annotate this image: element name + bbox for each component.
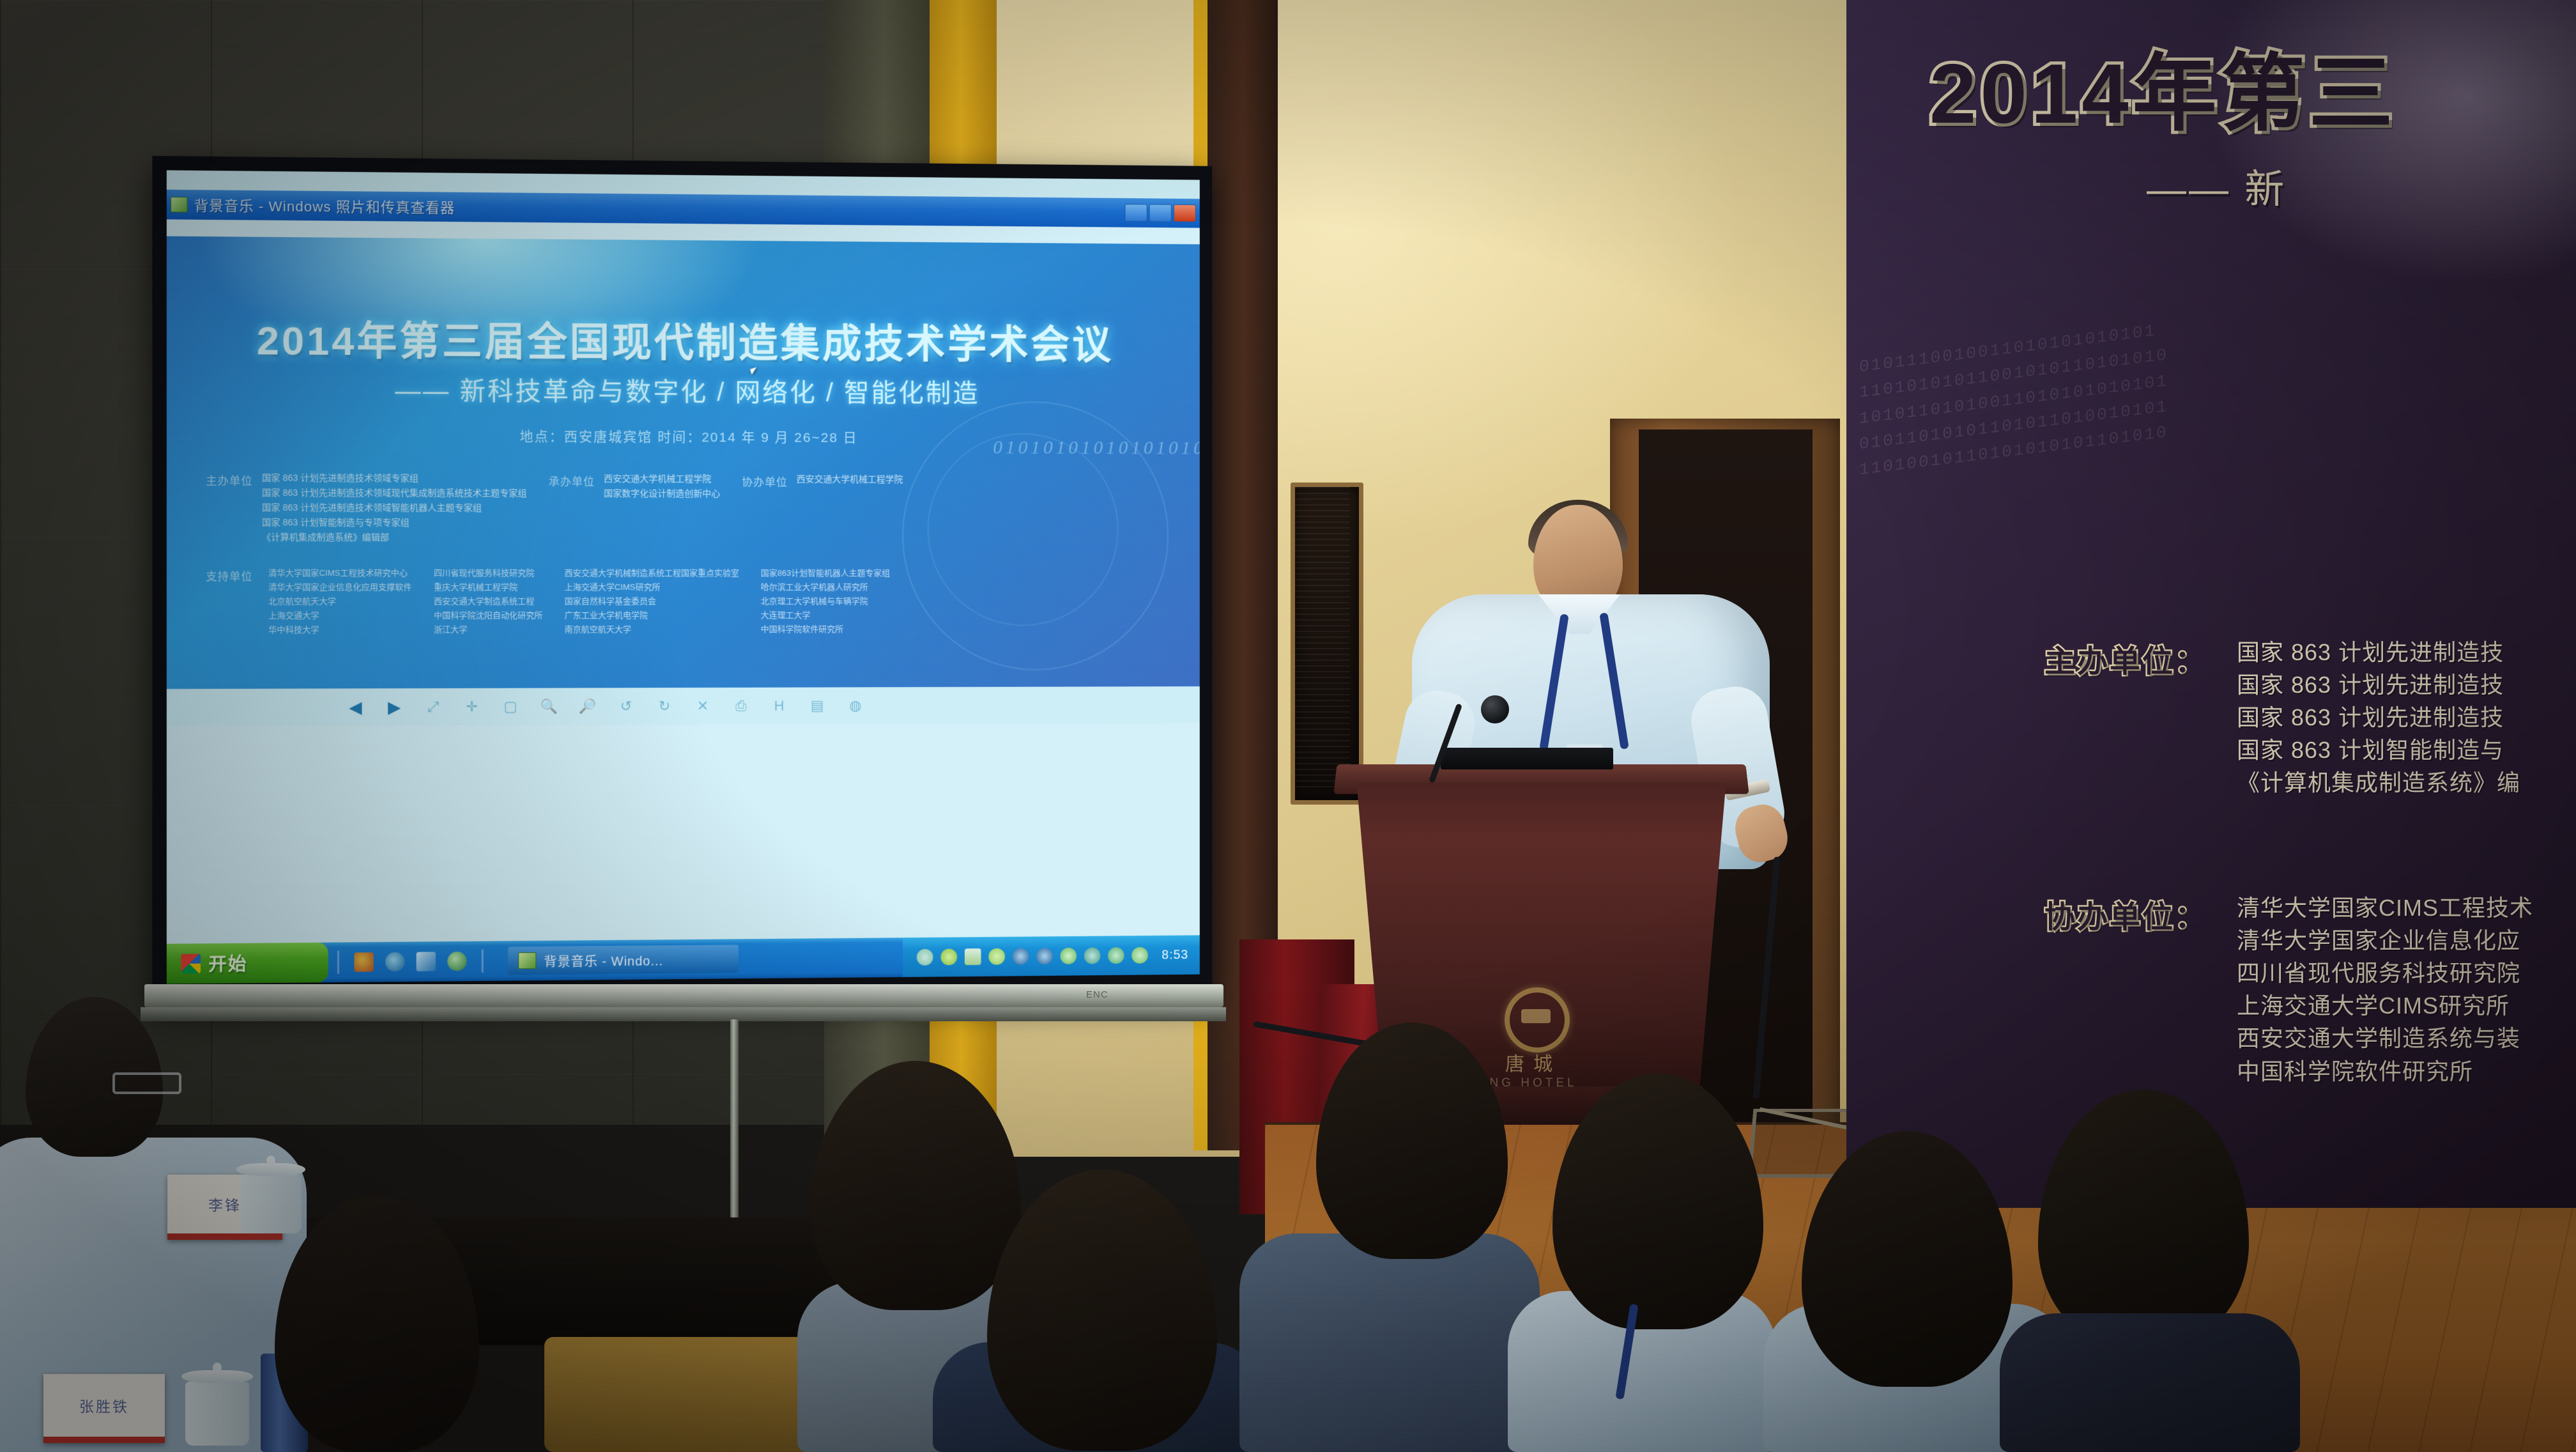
help-icon[interactable]: ◍: [846, 696, 865, 715]
teacup: [185, 1382, 249, 1446]
slide-venue-date: 地点：西安唐城宾馆 时间：2014 年 9 月 26~28 日: [167, 425, 1200, 447]
delete-icon[interactable]: ✕: [693, 697, 712, 716]
zoom-in-icon[interactable]: 🔍: [539, 697, 558, 716]
print-icon[interactable]: ⎙: [732, 697, 751, 716]
taskbar-window-label: 背景音乐 - Windo...: [544, 950, 663, 970]
save-as-icon[interactable]: H: [770, 697, 789, 716]
banner-host-section: 主办单位： 国家 863 计划先进制造技 国家 863 计划先进制造技 国家 8…: [2044, 636, 2520, 799]
name-card-text: 李锋: [208, 1193, 241, 1215]
slide-supporter-columns: 清华大学国家CIMS工程技术研究中心 清华大学国家企业信息化应用支撑软件 北京航…: [268, 566, 890, 638]
maximize-icon[interactable]: [1149, 204, 1172, 222]
slide-organizer-block: 协办单位 西安交通大学机械工程学院: [742, 472, 903, 489]
slide-supporter-label: 支持单位: [206, 566, 252, 638]
mail-icon[interactable]: [965, 948, 981, 965]
conference-backdrop-banner: 0101110010011010101010101 11010101011001…: [1846, 0, 2576, 1208]
slide-organizer-lines: 国家 863 计划先进制造技术领域专家组 国家 863 计划先进制造技术领域现代…: [262, 470, 526, 545]
next-image-icon[interactable]: ▶: [385, 697, 404, 716]
print-preview-icon[interactable]: ▢: [501, 697, 520, 716]
projection-screen: 背景音乐 - Windows 照片和传真查看器 0101010101010101…: [152, 156, 1212, 1003]
banner-host-label: 主办单位：: [2044, 636, 2207, 681]
close-icon[interactable]: [1174, 205, 1196, 222]
slide-subtitle: —— 新科技革命与数字化 / 网络化 / 智能化制造: [167, 369, 1200, 410]
edit-icon[interactable]: ▤: [808, 696, 827, 715]
best-fit-icon[interactable]: ⤢: [424, 697, 443, 716]
podium-laptop: [1441, 748, 1613, 769]
actual-size-icon[interactable]: ✛: [462, 697, 481, 716]
messenger-icon[interactable]: [447, 952, 466, 971]
windows-taskbar[interactable]: 开始 背景音乐 - Windo...: [167, 935, 1200, 984]
slide-organizer-block: 承办单位 西安交通大学机械工程学院 国家数字化设计制造创新中心: [549, 471, 720, 501]
projection-screen-brand: ENC: [1086, 989, 1108, 1000]
banner-co-organizer-label: 协办单位：: [2044, 892, 2207, 936]
conference-photo-scene: 0101110010011010101010101 11010101011001…: [0, 0, 2576, 1452]
start-button[interactable]: 开始: [167, 943, 328, 984]
slide-supporters: 支持单位 清华大学国家CIMS工程技术研究中心 清华大学国家企业信息化应用支撑软…: [206, 566, 1175, 638]
globe-icon[interactable]: [1084, 947, 1100, 964]
photo-viewer-icon: [518, 952, 536, 969]
network-disconnected-icon[interactable]: [1013, 948, 1029, 964]
slide-organizer-lines: 西安交通大学机械工程学院 国家数字化设计制造创新中心: [604, 472, 720, 502]
slide-organizer-label: 主办单位: [206, 470, 252, 488]
banner-binary-decoration: 0101110010011010101010101 11010101011001…: [1859, 311, 2217, 483]
photo-viewer-icon: [171, 197, 188, 213]
media-player-icon[interactable]: [354, 952, 373, 971]
update-icon[interactable]: [988, 948, 1005, 965]
rotate-left-icon[interactable]: ↺: [617, 697, 636, 716]
banner-host-lines: 国家 863 计划先进制造技 国家 863 计划先进制造技 国家 863 计划先…: [2237, 636, 2520, 799]
projection-screen-roller-shadow: [141, 1007, 1226, 1021]
outlook-icon[interactable]: [417, 952, 436, 971]
zoom-out-icon[interactable]: 🔎: [578, 697, 597, 716]
slide-organizers: 主办单位 国家 863 计划先进制造技术领域专家组 国家 863 计划先进制造技…: [206, 470, 1175, 546]
volume-icon[interactable]: [1131, 947, 1147, 964]
banner-subtitle: —— 新: [2147, 157, 2287, 214]
windows-logo-icon: [181, 954, 201, 974]
banner-co-organizer-lines: 清华大学国家CIMS工程技术 清华大学国家企业信息化应 四川省现代服务科技研究院…: [2237, 892, 2533, 1088]
defrag-icon[interactable]: [940, 948, 957, 965]
name-card: 张胜铁: [43, 1374, 165, 1443]
quick-launch-separator: [337, 951, 339, 974]
slide-title: 2014年第三届全国现代制造集成技术学术会议: [167, 307, 1200, 371]
audience-member-body: [1239, 1233, 1540, 1452]
hotel-emblem-icon: [1505, 987, 1570, 1053]
previous-image-icon[interactable]: ◀: [346, 697, 365, 716]
audience-member-body: [2000, 1313, 2300, 1452]
chair-back: [544, 1337, 819, 1452]
podium-emblem-cn: 唐城: [1495, 1048, 1572, 1076]
name-card-text: 张胜铁: [79, 1394, 129, 1416]
minimize-icon[interactable]: [1125, 204, 1147, 222]
banner-co-organizer-section: 协办单位： 清华大学国家CIMS工程技术 清华大学国家企业信息化应 四川省现代服…: [2044, 892, 2533, 1088]
slide-supporter-column: 清华大学国家CIMS工程技术研究中心 清华大学国家企业信息化应用支撑软件 北京航…: [268, 566, 411, 638]
teacup: [240, 1175, 302, 1233]
slide-supporter-column: 四川省现代服务科技研究院 重庆大学机械工程学院 西安交通大学制造系统工程 中国科…: [434, 566, 542, 637]
antivirus-icon[interactable]: [917, 949, 933, 966]
ie-icon[interactable]: [385, 952, 404, 971]
rotate-right-icon[interactable]: ↻: [655, 697, 674, 716]
conference-slide: 01010101010101010 2014年第三届全国现代制造集成技术学术会议…: [167, 236, 1200, 689]
taskbar-window-button[interactable]: 背景音乐 - Windo...: [508, 945, 739, 975]
slide-organizer-label: 承办单位: [549, 471, 595, 488]
projection-screen-roller: [144, 984, 1223, 1007]
photo-viewer-toolbar[interactable]: ◀ ▶ ⤢ ✛ ▢ 🔍 🔎 ↺ ↻ ✕ ⎙ H ▤ ◍: [167, 686, 1200, 727]
window-title: 背景音乐 - Windows 照片和传真查看器: [194, 194, 455, 217]
window-controls[interactable]: [1125, 204, 1196, 222]
slide-organizer-label: 协办单位: [742, 472, 788, 489]
network2-disconnected-icon[interactable]: [1036, 948, 1053, 964]
system-tray[interactable]: 8:53: [903, 935, 1200, 977]
projection-screen-surface: 背景音乐 - Windows 照片和传真查看器 0101010101010101…: [167, 170, 1200, 984]
slide-organizer-block: 主办单位 国家 863 计划先进制造技术领域专家组 国家 863 计划先进制造技…: [206, 470, 526, 545]
audience-member-head: [987, 1170, 1217, 1451]
banner-title: 2014年第三: [1929, 26, 2397, 148]
start-button-label: 开始: [208, 950, 247, 977]
microphone-icon: [1481, 695, 1509, 723]
taskbar-clock[interactable]: 8:53: [1161, 948, 1188, 962]
slide-supporter-column: 国家863计划智能机器人主题专家组 哈尔滨工业大学机器人研究所 北京理工大学机械…: [761, 566, 890, 637]
shield-icon[interactable]: [1061, 948, 1077, 964]
taskbar-separator: [482, 950, 484, 973]
slide-supporter-column: 西安交通大学机械制造系统工程国家重点实验室 上海交通大学CIMS研究所 国家自然…: [565, 566, 739, 637]
slide-organizer-lines: 西安交通大学机械工程学院: [797, 472, 903, 486]
eyeglasses-icon: [112, 1072, 181, 1094]
usb-icon[interactable]: [1108, 947, 1124, 964]
wall-grille-lines: [1295, 487, 1350, 791]
